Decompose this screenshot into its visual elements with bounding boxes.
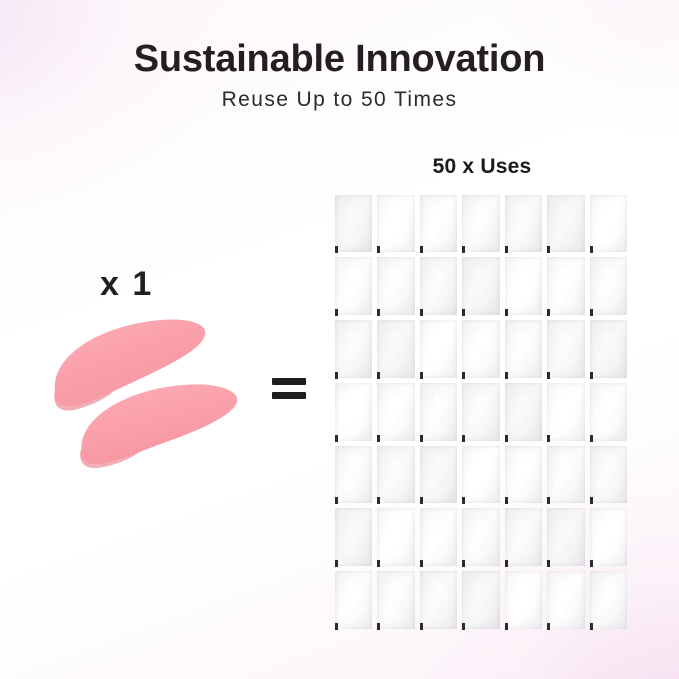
white-eye-patch-icon — [509, 262, 536, 310]
packet-body — [420, 257, 458, 315]
disposable-patch-packet — [333, 381, 376, 444]
disposable-patch-packet — [376, 444, 419, 507]
white-eye-patch-icon — [466, 325, 494, 372]
packet-body — [505, 571, 543, 629]
disposable-patch-packet — [333, 507, 376, 570]
packet-notch-icon — [547, 246, 550, 253]
disposable-patch-packet — [503, 381, 546, 444]
packet-notch-icon — [547, 309, 550, 316]
disposable-patch-packet — [333, 193, 376, 256]
disposable-patch-packet — [588, 570, 631, 633]
packet-notch-icon — [335, 560, 338, 567]
white-eye-patch-icon — [553, 200, 578, 245]
packet-body — [377, 383, 415, 441]
white-eye-patch-icon — [594, 261, 622, 309]
white-eye-patch-icon — [509, 576, 536, 624]
disposable-patch-packet — [546, 256, 589, 319]
packet-body — [505, 508, 543, 566]
packet-notch-icon — [335, 623, 338, 630]
packet-notch-icon — [505, 623, 508, 630]
disposable-patch-packet — [546, 381, 589, 444]
white-eye-patch-icon — [594, 450, 621, 497]
white-eye-patch-icon — [509, 199, 536, 246]
white-eye-patch-icon — [424, 262, 450, 309]
disposable-patch-packet — [503, 507, 546, 570]
disposable-patch-packet — [333, 256, 376, 319]
disposable-patch-packet — [418, 256, 461, 319]
packet-notch-icon — [377, 497, 380, 504]
packet-notch-icon — [335, 497, 338, 504]
equals-bar-bottom — [272, 392, 306, 399]
packet-body — [420, 195, 458, 253]
reusable-count-label: x 1 — [100, 265, 153, 304]
white-eye-patch-icon — [382, 576, 409, 624]
packet-body — [462, 383, 500, 441]
white-eye-patch-icon — [552, 325, 578, 371]
white-eye-patch-icon — [382, 199, 409, 246]
disposable-patch-packet — [461, 444, 504, 507]
disposable-patch-packet — [418, 570, 461, 633]
packet-body — [547, 257, 585, 315]
disposable-patch-packet — [333, 570, 376, 633]
packet-body — [335, 320, 373, 378]
packet-notch-icon — [590, 560, 593, 567]
disposable-patch-packet — [376, 256, 419, 319]
white-eye-patch-icon — [594, 388, 621, 435]
packet-body — [547, 571, 585, 629]
packet-body — [505, 446, 543, 504]
packet-body — [335, 571, 373, 629]
packet-body — [377, 446, 415, 504]
disposable-patch-packet — [418, 319, 461, 382]
packet-notch-icon — [420, 497, 423, 504]
packet-notch-icon — [335, 246, 338, 253]
packet-notch-icon — [505, 435, 508, 442]
disposable-patch-packet — [376, 507, 419, 570]
equals-icon: = — [272, 378, 308, 404]
packet-notch-icon — [462, 309, 465, 316]
packet-notch-icon — [590, 497, 593, 504]
white-eye-patch-icon — [466, 262, 493, 308]
disposable-patch-packet — [461, 381, 504, 444]
packet-notch-icon — [377, 372, 380, 379]
packet-notch-icon — [420, 372, 423, 379]
disposable-patch-packet — [588, 193, 631, 256]
disposable-patch-packet — [503, 570, 546, 633]
disposable-patch-packet — [376, 193, 419, 256]
disposable-patch-packet — [588, 256, 631, 319]
packet-notch-icon — [547, 560, 550, 567]
packet-body — [547, 446, 585, 504]
packet-notch-icon — [335, 435, 338, 442]
packet-body — [505, 195, 543, 253]
disposable-patch-packet — [461, 193, 504, 256]
equals-bar-top — [272, 378, 306, 385]
page-subtitle: Reuse Up to 50 Times — [0, 87, 679, 112]
disposable-patch-packet — [418, 444, 461, 507]
packet-body — [377, 257, 415, 315]
white-eye-patch-icon — [338, 387, 366, 435]
white-eye-patch-icon — [466, 450, 494, 498]
grid-heading: 50 x Uses — [333, 155, 631, 179]
packet-notch-icon — [420, 309, 423, 316]
packet-notch-icon — [590, 372, 593, 379]
packet-notch-icon — [505, 309, 508, 316]
packet-notch-icon — [590, 309, 593, 316]
packet-notch-icon — [462, 435, 465, 442]
disposable-patch-packet — [418, 381, 461, 444]
white-eye-patch-icon — [594, 513, 621, 561]
white-eye-patch-icon — [339, 576, 367, 623]
packet-notch-icon — [547, 497, 550, 504]
packet-body — [335, 383, 373, 441]
packet-body — [462, 446, 500, 504]
white-eye-patch-icon — [509, 388, 535, 434]
packet-body — [590, 446, 628, 504]
disposable-patch-packet — [546, 193, 589, 256]
disposable-patch-packet — [588, 444, 631, 507]
white-eye-patch-icon — [466, 576, 493, 622]
white-eye-patch-icon — [424, 387, 451, 435]
white-eye-patch-icon — [425, 200, 451, 246]
white-eye-patch-icon — [509, 451, 536, 498]
packet-body — [547, 508, 585, 566]
packet-notch-icon — [335, 309, 338, 316]
disposable-patch-packet — [461, 319, 504, 382]
packet-body — [590, 257, 628, 315]
disposable-patch-packet — [546, 444, 589, 507]
packet-notch-icon — [420, 435, 423, 442]
packet-notch-icon — [590, 246, 593, 253]
packet-body — [420, 383, 458, 441]
packet-notch-icon — [420, 623, 423, 630]
packet-body — [335, 446, 373, 504]
packet-body — [590, 320, 628, 378]
packet-body — [462, 571, 500, 629]
packet-body — [377, 320, 415, 378]
packet-body — [505, 383, 543, 441]
packet-notch-icon — [462, 560, 465, 567]
white-eye-patch-icon — [594, 325, 620, 371]
white-eye-patch-icon — [552, 388, 578, 435]
white-eye-patch-icon — [425, 451, 451, 497]
disposable-patch-packet — [461, 570, 504, 633]
packet-notch-icon — [377, 309, 380, 316]
white-eye-patch-icon — [424, 325, 451, 372]
white-eye-patch-icon — [509, 513, 536, 560]
disposable-patch-grid — [333, 193, 631, 633]
white-eye-patch-icon — [382, 513, 409, 560]
packet-notch-icon — [590, 623, 593, 630]
white-eye-patch-icon — [339, 514, 366, 560]
packet-notch-icon — [462, 623, 465, 630]
white-eye-patch-icon — [552, 577, 577, 623]
packet-notch-icon — [377, 246, 380, 253]
packet-body — [505, 257, 543, 315]
packet-notch-icon — [377, 435, 380, 442]
white-eye-patch-icon — [552, 263, 577, 309]
packet-body — [547, 195, 585, 253]
disposable-patch-packet — [418, 193, 461, 256]
packet-body — [590, 571, 628, 629]
disposable-patch-packet — [588, 381, 631, 444]
white-eye-patch-icon — [594, 199, 621, 247]
packet-notch-icon — [462, 246, 465, 253]
white-eye-patch-icon — [382, 451, 408, 498]
disposable-patch-packet — [461, 507, 504, 570]
disposable-patch-packet — [461, 256, 504, 319]
packet-body — [420, 508, 458, 566]
disposable-patch-packet — [376, 381, 419, 444]
reusable-patch-group: pink-eye-patch-upper pink-eye-patch-lowe… — [28, 312, 248, 492]
disposable-patch-packet — [333, 444, 376, 507]
disposable-patch-packet — [503, 256, 546, 319]
page-title: Sustainable Innovation — [0, 38, 679, 81]
packet-notch-icon — [335, 372, 338, 379]
packet-body — [420, 320, 458, 378]
packet-notch-icon — [377, 560, 380, 567]
packet-body — [335, 508, 373, 566]
white-eye-patch-icon — [552, 450, 578, 497]
packet-notch-icon — [505, 560, 508, 567]
white-eye-patch-icon — [466, 387, 494, 435]
packet-notch-icon — [547, 623, 550, 630]
packet-body — [377, 571, 415, 629]
packet-notch-icon — [547, 435, 550, 442]
packet-body — [547, 320, 585, 378]
white-eye-patch-icon — [466, 512, 495, 561]
white-eye-patch-icon — [382, 388, 408, 434]
disposable-patch-packet — [588, 319, 631, 382]
white-eye-patch-icon — [553, 514, 578, 559]
white-eye-patch-icon — [594, 575, 622, 623]
white-eye-patch-icon — [339, 262, 367, 309]
packet-body — [420, 571, 458, 629]
disposable-patch-packet — [333, 319, 376, 382]
white-eye-patch-icon — [509, 324, 537, 372]
disposable-patch-packet — [546, 319, 589, 382]
packet-body — [462, 508, 500, 566]
packet-body — [547, 383, 585, 441]
white-eye-patch-icon — [425, 514, 451, 560]
packet-body — [590, 195, 628, 253]
packet-body — [505, 320, 543, 378]
white-eye-patch-icon — [382, 326, 408, 372]
disposable-patch-packet — [503, 193, 546, 256]
packet-body — [590, 508, 628, 566]
white-eye-patch-icon — [339, 325, 367, 373]
disposable-patch-packet — [503, 319, 546, 382]
packet-notch-icon — [462, 372, 465, 379]
disposable-patch-packet — [376, 570, 419, 633]
packet-notch-icon — [590, 435, 593, 442]
packet-notch-icon — [420, 246, 423, 253]
white-eye-patch-icon — [424, 576, 450, 623]
heading-block: Sustainable Innovation Reuse Up to 50 Ti… — [0, 38, 679, 112]
packet-notch-icon — [462, 497, 465, 504]
packet-body — [335, 195, 373, 253]
white-eye-patch-icon — [339, 200, 366, 246]
white-eye-patch-icon — [382, 262, 409, 310]
packet-body — [377, 195, 415, 253]
disposable-patch-packet — [588, 507, 631, 570]
disposable-patch-packet — [546, 507, 589, 570]
promo-poster: Sustainable Innovation Reuse Up to 50 Ti… — [0, 0, 679, 679]
packet-notch-icon — [505, 372, 508, 379]
disposable-patch-packet — [546, 570, 589, 633]
packet-body — [462, 320, 500, 378]
packet-body — [377, 508, 415, 566]
disposable-patch-packet — [503, 444, 546, 507]
packet-notch-icon — [505, 246, 508, 253]
packet-body — [420, 446, 458, 504]
white-eye-patch-icon — [466, 198, 495, 247]
packet-body — [335, 257, 373, 315]
packet-body — [590, 383, 628, 441]
packet-notch-icon — [547, 372, 550, 379]
packet-body — [462, 195, 500, 253]
packet-body — [462, 257, 500, 315]
white-eye-patch-icon — [338, 450, 367, 499]
packet-notch-icon — [377, 623, 380, 630]
disposable-patch-packet — [376, 319, 419, 382]
packet-notch-icon — [420, 560, 423, 567]
disposable-patch-packet — [418, 507, 461, 570]
packet-notch-icon — [505, 497, 508, 504]
